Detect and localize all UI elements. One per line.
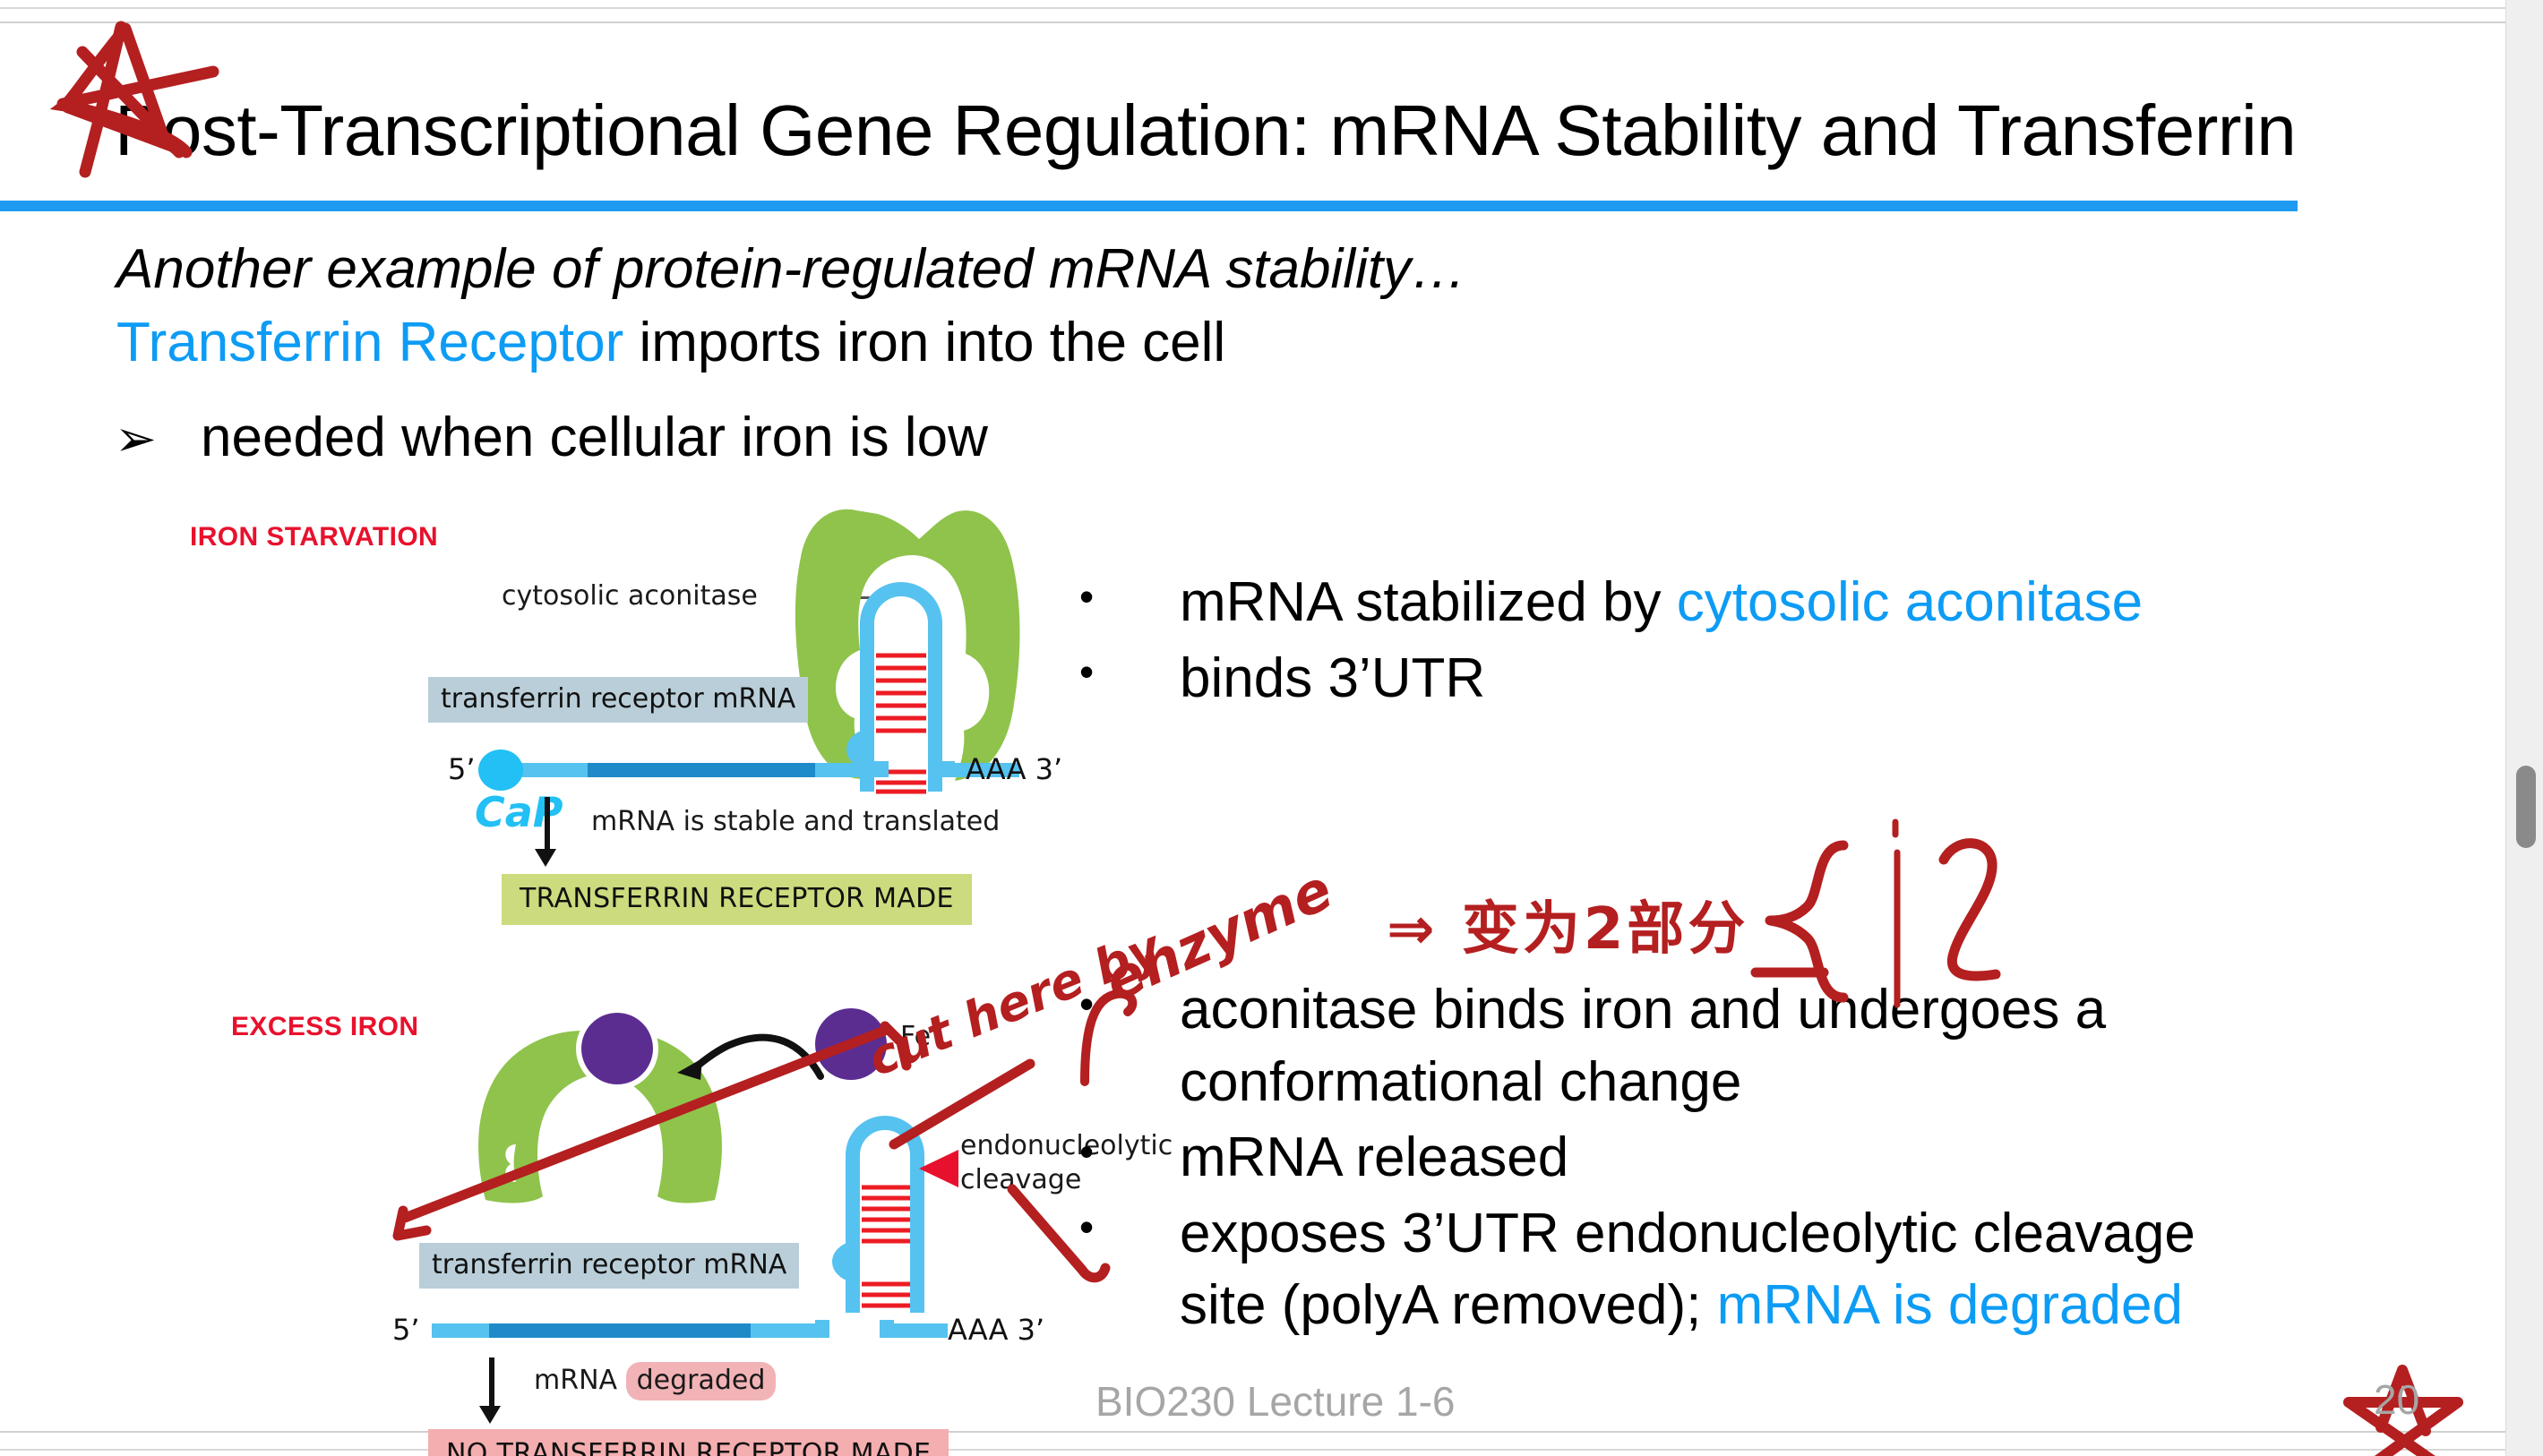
degraded-arrow-shaft [489, 1358, 494, 1409]
document-viewer: Post-Transcriptional Gene Regulation: mR… [0, 0, 2543, 1456]
viewer-bottom-edge [0, 1431, 2505, 1433]
bullet-mrna-released-label: mRNA released [1180, 1122, 2477, 1195]
bullet-aconitase-binds-iron-line1: aconitase binds iron and undergoes a [1180, 974, 2477, 1047]
intro-line-2-rest: imports iron into the cell [623, 312, 1225, 373]
five-prime-label-bottom: 5’ [392, 1313, 420, 1347]
ink-chinese-note: ⇒ 变为2部分 [1387, 883, 1748, 965]
sub-bullet-iron-low: ➢needed when cellular iron is low [115, 401, 988, 475]
viewer-bottom-edge-2 [0, 1449, 2505, 1451]
footer-lecture-label: BIO230 Lecture 1-6 [1095, 1377, 1455, 1426]
stable-arrow-head [535, 849, 556, 867]
bullet-list-top: • mRNA stabilized by cytosolic aconitase… [1079, 567, 2450, 718]
cytosolic-aconitase-highlight: cytosolic aconitase [1677, 571, 2143, 633]
endonucleolytic-label-line2: cleavage [960, 1164, 1081, 1195]
bullet-dot-icon: • [1079, 1201, 1094, 1255]
bullet-aconitase-binds-iron: • aconitase binds iron and undergoes a c… [1079, 974, 2477, 1118]
bullet-exposes-3utr-text: site (polyA removed); [1180, 1274, 1717, 1336]
mrna-hairpin-exposed [806, 1073, 1039, 1341]
bullet-exposes-3utr: • exposes 3’UTR endonucleolytic cleavage… [1079, 1198, 2477, 1342]
page-number: 20 [2374, 1375, 2419, 1424]
transferrin-receptor-mrna-tag-bottom: transferrin receptor mRNA [419, 1243, 799, 1289]
excess-iron-label: EXCESS IRON [231, 1012, 418, 1042]
transferrin-receptor-mrna-tag-top: transferrin receptor mRNA [428, 677, 808, 723]
bullet-binds-3utr-label: binds 3’UTR [1180, 643, 2450, 715]
mrna-stable-caption: mRNA is stable and translated [591, 806, 1000, 837]
transferrin-receptor-made-box: TRANSFERRIN RECEPTOR MADE [502, 874, 972, 925]
bullet-mrna-stabilized: • mRNA stabilized by cytosolic aconitase [1079, 567, 2450, 639]
bullet-mrna-stabilized-label: mRNA stabilized by cytosolic aconitase [1180, 567, 2450, 639]
bullet-mrna-stabilized-text: mRNA stabilized by [1180, 571, 1677, 633]
slide-canvas: Post-Transcriptional Gene Regulation: mR… [0, 25, 2505, 1429]
mrna-degraded-caption: mRNA degraded [534, 1365, 776, 1396]
no-transferrin-receptor-made-box: NO TRANSFERRIN RECEPTOR MADE [428, 1429, 949, 1456]
page-title: Post-Transcriptional Gene Regulation: mR… [115, 95, 2444, 167]
transferrin-receptor-highlight: Transferrin Receptor [116, 312, 623, 373]
scrollbar-thumb[interactable] [2516, 766, 2536, 848]
mrna-degraded-highlight: mRNA is degraded [1717, 1274, 2183, 1336]
intro-line-1: Another example of protein-regulated mRN… [116, 233, 2266, 306]
iron-starvation-label: IRON STARVATION [190, 522, 438, 552]
cytosolic-aconitase-label: cytosolic aconitase [502, 580, 758, 612]
viewer-top-edge [0, 0, 2505, 9]
bullet-binds-3utr: • binds 3’UTR [1079, 643, 2450, 715]
iron-bound-circle [568, 999, 666, 1098]
cleavage-site-arrowhead [912, 1144, 966, 1195]
vertical-scrollbar[interactable] [2505, 0, 2543, 1456]
bullet-list-bottom: • aconitase binds iron and undergoes a c… [1079, 974, 2477, 1346]
three-prime-label-bottom: AAA 3’ [948, 1313, 1044, 1347]
three-prime-label-top: AAA 3’ [966, 752, 1062, 786]
arrow-bullet-icon: ➢ [115, 407, 201, 473]
stable-arrow-shaft [545, 797, 550, 852]
bullet-dot-icon: • [1079, 646, 1094, 699]
mrna-degraded-caption-a: mRNA [534, 1365, 626, 1396]
bullet-mrna-released: • mRNA released [1079, 1122, 2477, 1195]
title-underline-rule [0, 201, 2298, 211]
bullet-aconitase-binds-iron-line2: conformational change [1180, 1047, 2477, 1119]
intro-line-2: Transferrin Receptor imports iron into t… [116, 306, 2266, 380]
viewer-toolbar-strip [0, 11, 2505, 23]
intro-text-block: Another example of protein-regulated mRN… [116, 233, 2266, 381]
bullet-dot-icon: • [1079, 570, 1094, 624]
figure-iron-starvation: IRON STARVATION cytosolic aconitase [0, 491, 1075, 912]
degraded-highlight: degraded [626, 1362, 777, 1400]
five-prime-label-top: 5’ [448, 752, 476, 786]
bullet-exposes-3utr-line1: exposes 3’UTR endonucleolytic cleavage [1180, 1198, 2477, 1271]
bullet-dot-icon: • [1079, 1126, 1094, 1179]
sub-bullet-label: needed when cellular iron is low [201, 407, 988, 468]
degraded-arrow-head [479, 1406, 501, 1424]
bullet-exposes-3utr-line2: site (polyA removed); mRNA is degraded [1180, 1270, 2477, 1342]
